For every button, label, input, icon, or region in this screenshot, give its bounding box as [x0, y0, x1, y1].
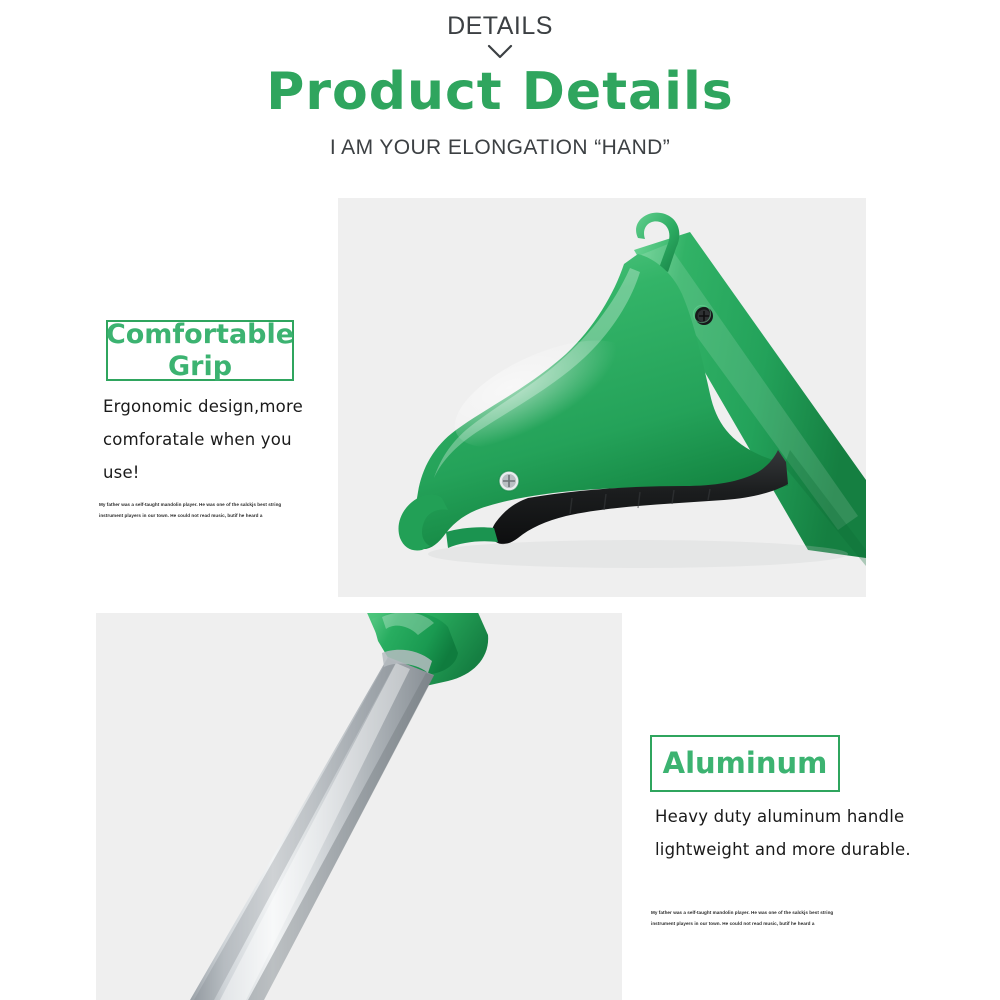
feature-label-text: Aluminum: [663, 747, 828, 780]
product-details-page: DETAILS Product Details I AM YOUR ELONGA…: [0, 0, 1000, 1000]
eyebrow-details: DETAILS: [0, 12, 1000, 41]
page-subtitle: I AM YOUR ELONGATION “HAND”: [0, 136, 1000, 160]
feature-label-box-comfortable-grip: Comfortable Grip: [106, 320, 294, 381]
feature-label-text: Comfortable Grip: [106, 319, 294, 381]
feature-filler-text-comfortable-grip: My father was a self-taught mandolin pla…: [99, 500, 284, 521]
product-photo-pole: [96, 613, 622, 1000]
feature-description-aluminum: Heavy duty aluminum handle lightweight a…: [655, 800, 935, 866]
chevron-down-icon: [0, 42, 1000, 62]
page-title: Product Details: [0, 62, 1000, 122]
feature-label-box-aluminum: Aluminum: [650, 735, 840, 792]
feature-description-comfortable-grip: Ergonomic design,more comforatale when y…: [103, 390, 328, 489]
product-photo-grip: [338, 198, 866, 597]
feature-filler-text-aluminum: My father was a self-taught mandolin pla…: [651, 908, 836, 929]
